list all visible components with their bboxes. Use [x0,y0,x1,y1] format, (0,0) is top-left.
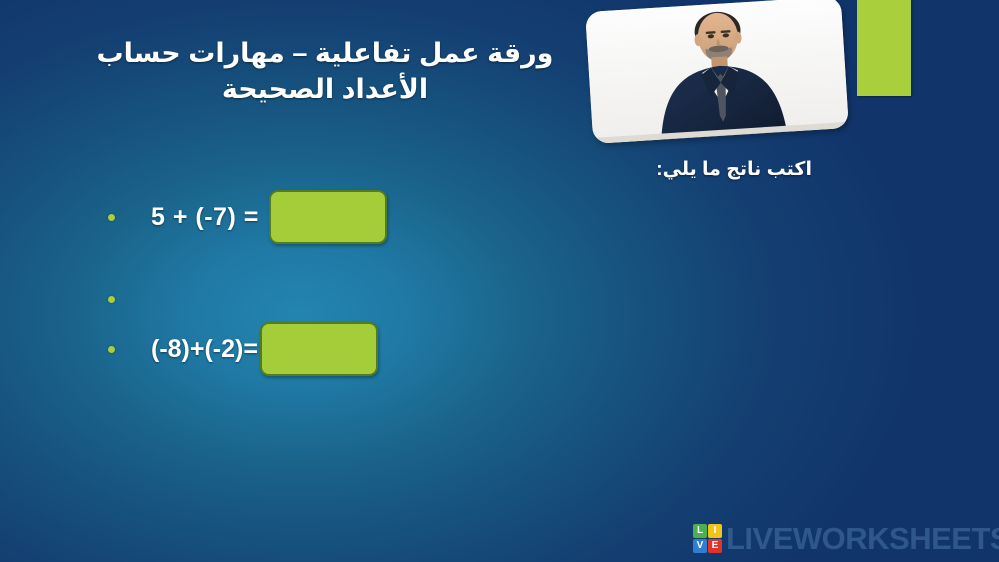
bullet-icon [108,296,115,303]
bullet-icon [108,214,115,221]
logo-tile-e: E [708,539,722,553]
empty-bullet-row [108,296,115,303]
page-title: ورقة عمل تفاعلية – مهارات حساب الأعداد ا… [60,36,590,107]
instruction-text: اكتب ناتج ما يلي: [560,158,812,181]
bullet-icon [108,346,115,353]
worksheet-slide: ورقة عمل تفاعلية – مهارات حساب الأعداد ا… [0,0,999,562]
logo-tile-i: I [708,524,722,538]
page-title-line-1: ورقة عمل تفاعلية – مهارات حساب [60,36,590,72]
liveworksheets-watermark: L I V E LIVEWORKSHEETS [693,523,999,554]
liveworksheets-logo-icon: L I V E [693,524,722,553]
portrait-photo [585,0,849,144]
decorative-green-rectangle [857,0,911,96]
portrait-image [585,0,849,144]
logo-tile-v: V [693,539,707,553]
exercise-row-2: (-8)+(-2)= [108,322,378,376]
answer-input-2[interactable] [260,322,378,376]
exercise-row-1: 5 + (-7) = [108,190,387,244]
photo-frame [585,0,849,144]
expression-2: (-8)+(-2)= [151,335,258,364]
logo-tile-l: L [693,524,707,538]
answer-input-1[interactable] [269,190,387,244]
watermark-text: LIVEWORKSHEETS [726,523,999,554]
expression-1: 5 + (-7) = [151,203,259,232]
page-title-line-2: الأعداد الصحيحة [60,72,590,108]
